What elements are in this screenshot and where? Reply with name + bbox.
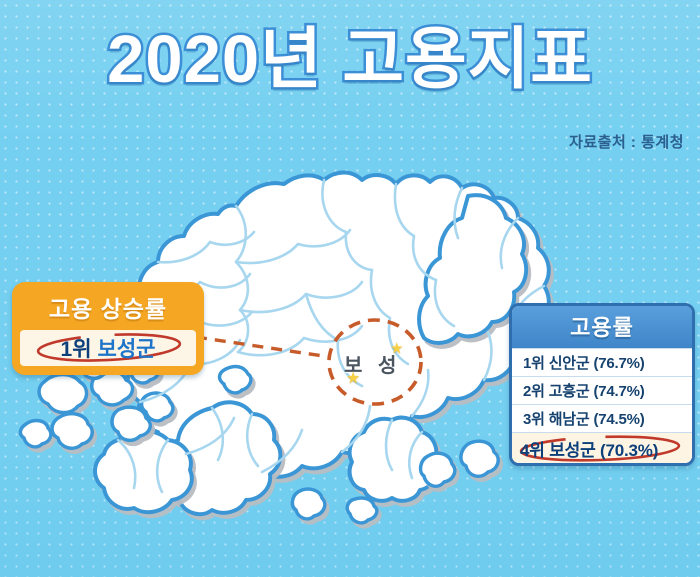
island-shape — [347, 498, 377, 523]
data-source-label: 자료출처 : 통계청 — [569, 131, 684, 152]
island-shape — [292, 489, 324, 519]
growth-rank: 1위 — [61, 333, 92, 363]
table-row: 2위 고흥군 (74.7%) — [512, 376, 692, 404]
employment-rate-panel: 고용률 1위 신안군 (76.7%) 2위 고흥군 (74.7%) 3위 해남군… — [509, 303, 695, 466]
island-shape — [39, 375, 87, 413]
employment-rate-title: 고용률 — [512, 306, 692, 348]
page-title: 2020년 고용지표 — [107, 26, 593, 93]
table-row: 1위 신안군 (76.7%) — [512, 348, 692, 376]
island-shape — [20, 421, 51, 447]
jindo-island-shape — [95, 431, 192, 512]
title-block: 2020년 고용지표 — [0, 26, 700, 93]
employment-growth-top-entry: 1위 보성군 — [20, 330, 196, 366]
island-shape — [461, 441, 498, 476]
island-shape — [52, 414, 92, 449]
employment-growth-badge: 고용 상승률 1위 보성군 — [12, 282, 204, 375]
rate-row-text: 3위 해남군 (74.5%) — [523, 408, 645, 429]
rate-row-text: 4위 보성군 (70.3%) — [520, 436, 658, 461]
table-row: 3위 해남군 (74.5%) — [512, 404, 692, 432]
table-row-highlighted: 4위 보성군 (70.3%) — [512, 432, 692, 463]
infographic-canvas: 보 성 ★ ★ 2020년 고용지표 자료출처 : 통계청 고용 상승률 1위 … — [0, 0, 700, 577]
rate-row-text: 1위 신안군 (76.7%) — [523, 352, 645, 373]
island-shape — [421, 453, 455, 486]
rate-row-text: 2위 고흥군 (74.7%) — [523, 380, 645, 401]
growth-region-name: 보성군 — [98, 333, 156, 363]
employment-growth-title: 고용 상승률 — [20, 288, 196, 330]
